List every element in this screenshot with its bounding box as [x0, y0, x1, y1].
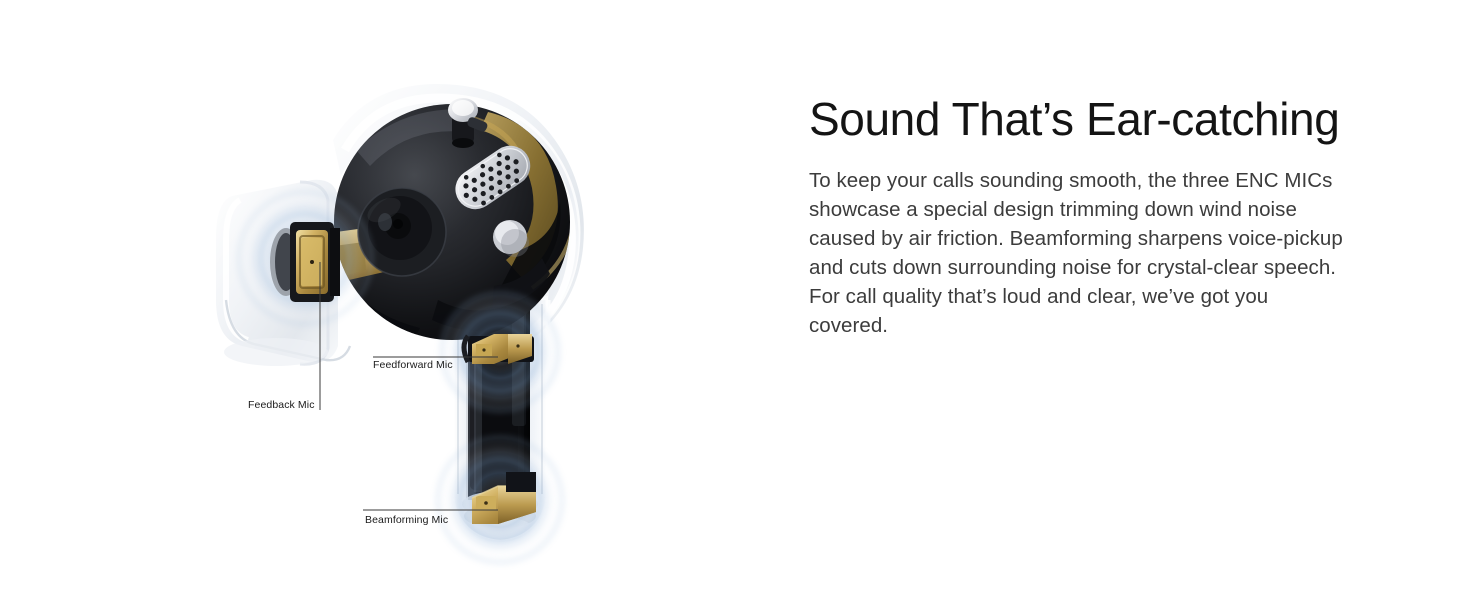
- callout-label-beamforming-mic: Beamforming Mic: [365, 515, 448, 526]
- product-feature-banner: Feedback Mic Feedforward Mic Beamforming…: [0, 0, 1464, 600]
- body-copy: To keep your calls sounding smooth, the …: [809, 166, 1349, 340]
- product-hero-image: Feedback Mic Feedforward Mic Beamforming…: [0, 0, 740, 600]
- feedback-mic-module: [270, 222, 340, 302]
- copy-block: Sound That’s Ear-catching To keep your c…: [809, 96, 1389, 340]
- earbud-cutaway-illustration: [0, 0, 740, 600]
- body-paragraph: To keep your calls sounding smooth, the …: [809, 166, 1349, 340]
- callout-label-feedback-mic: Feedback Mic: [248, 400, 315, 411]
- callout-label-feedforward-mic: Feedforward Mic: [373, 360, 453, 371]
- page-title: Sound That’s Ear-catching: [809, 96, 1389, 144]
- feedforward-mic-module: [464, 334, 534, 364]
